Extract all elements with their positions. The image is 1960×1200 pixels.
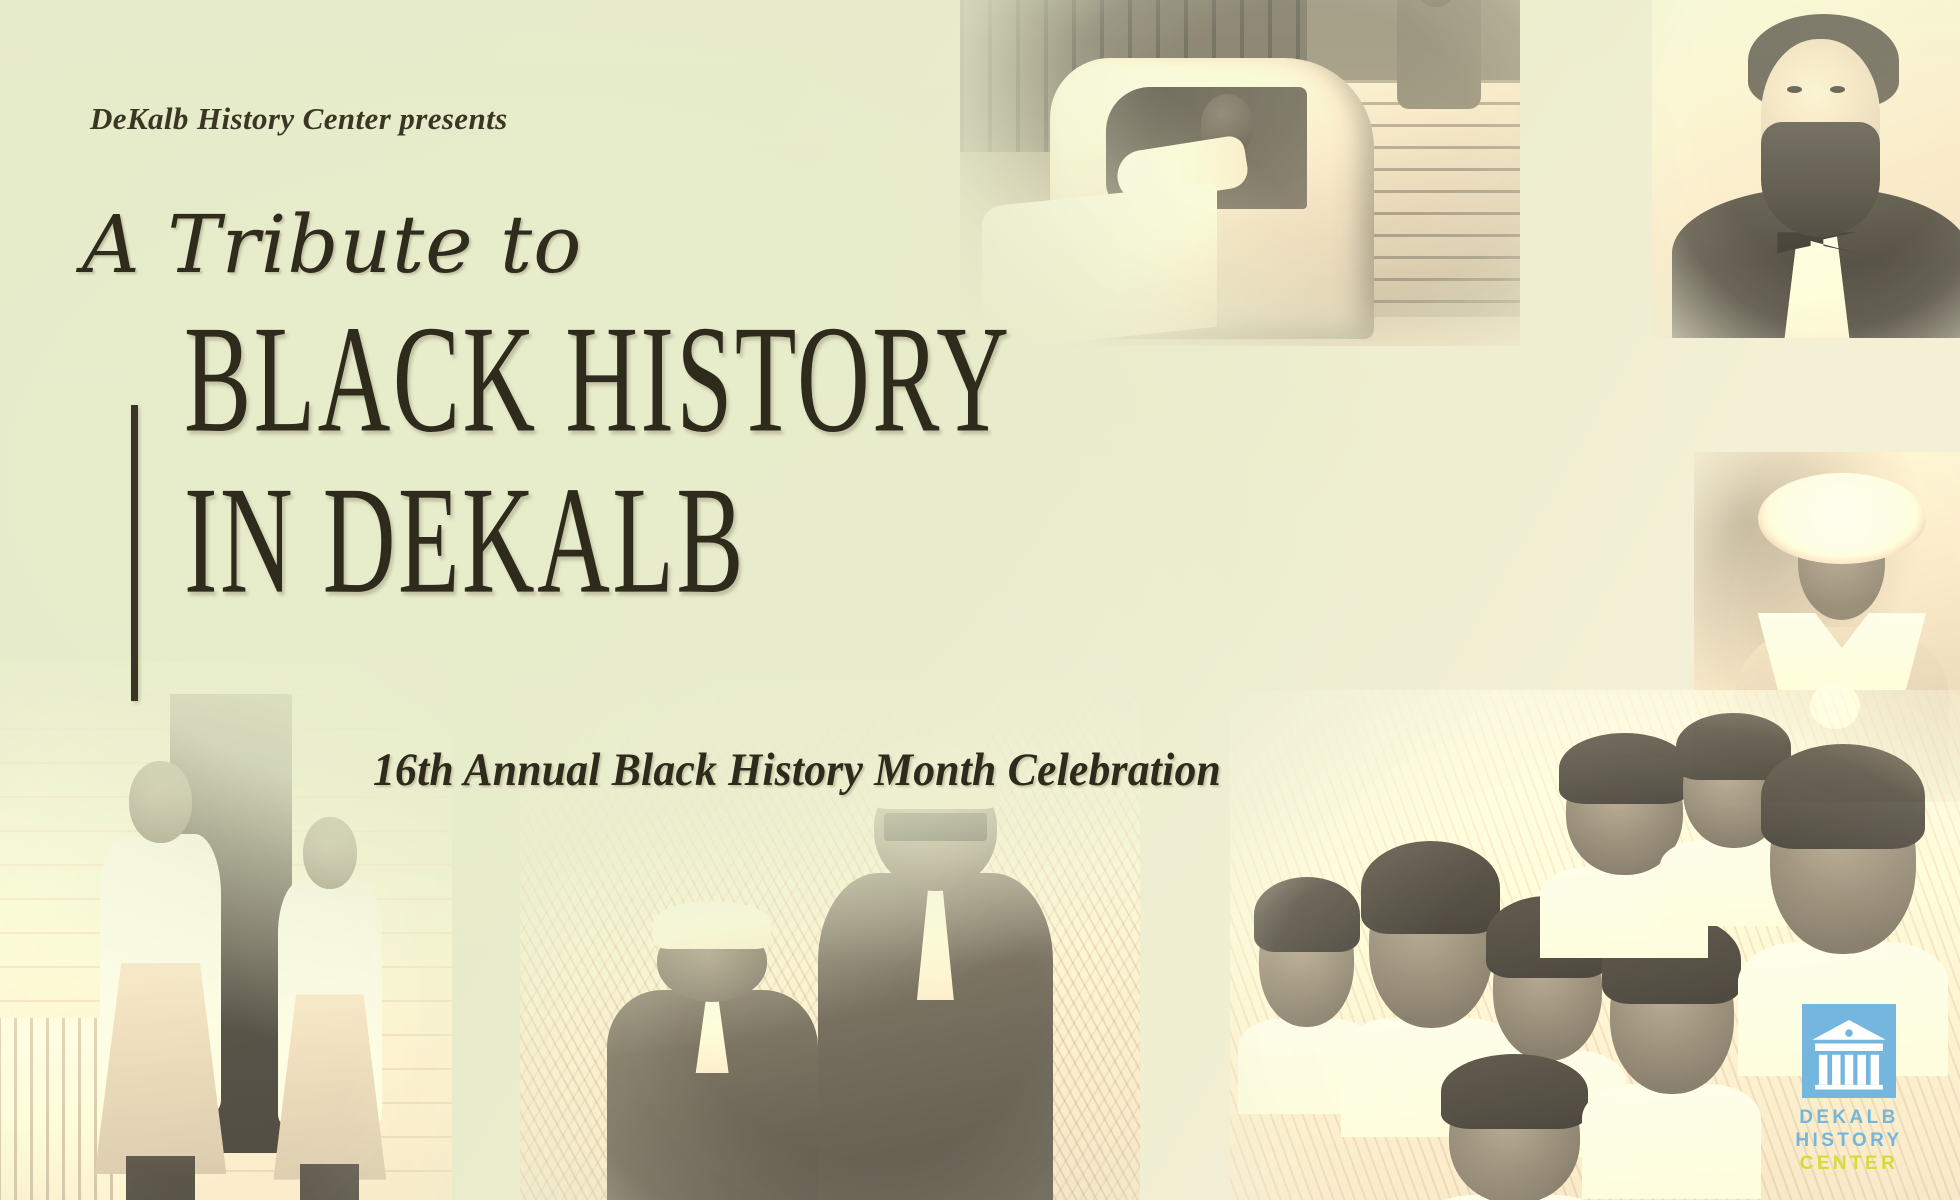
dekalb-history-center-logo: DEKALB HISTORY CENTER xyxy=(1776,1004,1922,1175)
logo-line-history: HISTORY xyxy=(1776,1129,1922,1152)
headline-line-2: IN DEKALB xyxy=(184,461,1011,622)
logo-line-center: CENTER xyxy=(1776,1152,1922,1175)
presenter-line: DeKalb History Center presents xyxy=(90,101,508,137)
vertical-accent-rule xyxy=(131,405,138,701)
page-title: BLACK HISTORY IN DEKALB xyxy=(184,300,1011,622)
classical-building-icon xyxy=(1802,1004,1896,1098)
headline-line-1: BLACK HISTORY xyxy=(184,300,1011,461)
logo-wordmark: DEKALB HISTORY CENTER xyxy=(1776,1106,1922,1175)
poster-content: DeKalb History Center presents A Tribute… xyxy=(0,0,1960,1200)
poster-canvas: DeKalb History Center presents A Tribute… xyxy=(0,0,1960,1200)
subtitle-line: 16th Annual Black History Month Celebrat… xyxy=(373,743,1221,797)
logo-line-dekalb: DEKALB xyxy=(1776,1106,1922,1129)
tribute-line: A Tribute to xyxy=(82,198,582,291)
